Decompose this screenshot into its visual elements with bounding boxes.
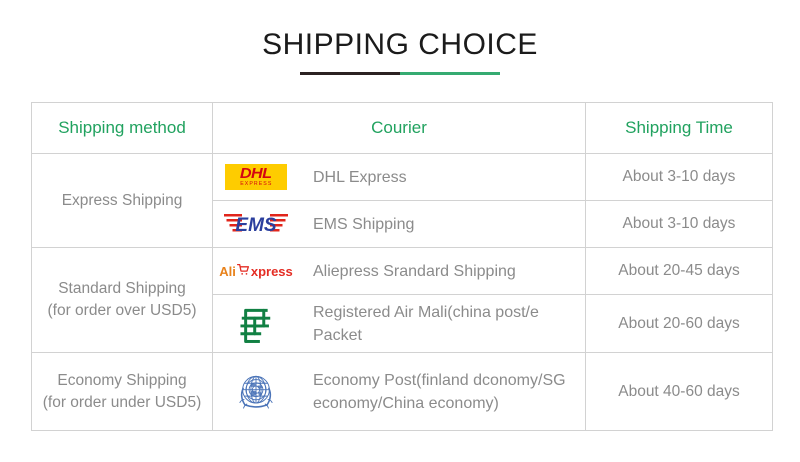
courier-cell-economy-post: Economy Post(finland dconomy/SG economy/…	[213, 353, 586, 431]
courier-cell-ems: EMS EMS Shipping	[213, 201, 586, 248]
column-header-shipping-method: Shipping method	[32, 103, 213, 154]
shipping-time-cell: About 20-45 days	[586, 248, 773, 295]
courier-cell-china-post: Registered Air Mali(china post/e Packet	[213, 295, 586, 353]
method-cell-express-shipping: Express Shipping	[32, 154, 213, 248]
courier-cell-dhl: DHL EXPRESS DHL Express	[213, 154, 586, 201]
dhl-logo-text: DHL	[240, 167, 272, 181]
united-nations-logo	[213, 369, 299, 415]
shipping-choice-page: SHIPPING CHOICE Shipping method Courier …	[0, 0, 800, 462]
column-header-shipping-time: Shipping Time	[586, 103, 773, 154]
table-row: Economy Shipping (for order under USD5)	[32, 353, 773, 431]
method-label-secondary: (for order under USD5)	[32, 392, 212, 414]
page-header: SHIPPING CHOICE	[0, 28, 800, 62]
shipping-time-cell: About 40-60 days	[586, 353, 773, 431]
page-title: SHIPPING CHOICE	[0, 28, 800, 62]
dhl-logo: DHL EXPRESS	[213, 154, 299, 200]
table-row: Standard Shipping (for order over USD5) …	[32, 248, 773, 295]
dhl-logo-subtext: EXPRESS	[240, 181, 272, 187]
shipping-table: Shipping method Courier Shipping Time Ex…	[31, 102, 773, 431]
column-header-courier: Courier	[213, 103, 586, 154]
aliexpress-logo-xpress-text: xpress	[251, 264, 293, 279]
shipping-table-wrapper: Shipping method Courier Shipping Time Ex…	[31, 102, 772, 431]
method-cell-standard-shipping: Standard Shipping (for order over USD5)	[32, 248, 213, 353]
courier-name: Aliepress Srandard Shipping	[313, 260, 516, 283]
china-post-logo	[213, 301, 299, 347]
shipping-time-cell: About 3-10 days	[586, 201, 773, 248]
courier-name: DHL Express	[313, 166, 407, 189]
title-underline-green-segment	[400, 72, 500, 75]
method-label-primary: Economy Shipping	[32, 370, 212, 392]
method-label-primary: Standard Shipping	[32, 278, 212, 300]
courier-name: EMS Shipping	[313, 213, 414, 236]
method-label-primary: Express Shipping	[32, 190, 212, 212]
method-cell-economy-shipping: Economy Shipping (for order under USD5)	[32, 353, 213, 431]
shipping-time-cell: About 20-60 days	[586, 295, 773, 353]
ems-logo: EMS	[213, 201, 299, 247]
shopping-cart-icon	[237, 263, 250, 279]
aliexpress-logo-ali-text: Ali	[219, 264, 236, 279]
title-underline	[300, 72, 500, 75]
aliexpress-logo: Ali xpress	[213, 248, 299, 294]
courier-name: Economy Post(finland dconomy/SG economy/…	[313, 369, 585, 415]
method-label-secondary: (for order over USD5)	[32, 300, 212, 322]
title-underline-dark-segment	[300, 72, 400, 75]
courier-name: Registered Air Mali(china post/e Packet	[313, 301, 585, 347]
shipping-time-cell: About 3-10 days	[586, 154, 773, 201]
table-row: Express Shipping DHL EXPRESS DHL Express	[32, 154, 773, 201]
courier-cell-aliexpress: Ali xpress	[213, 248, 586, 295]
table-header-row: Shipping method Courier Shipping Time	[32, 103, 773, 154]
svg-text:EMS: EMS	[235, 215, 277, 236]
